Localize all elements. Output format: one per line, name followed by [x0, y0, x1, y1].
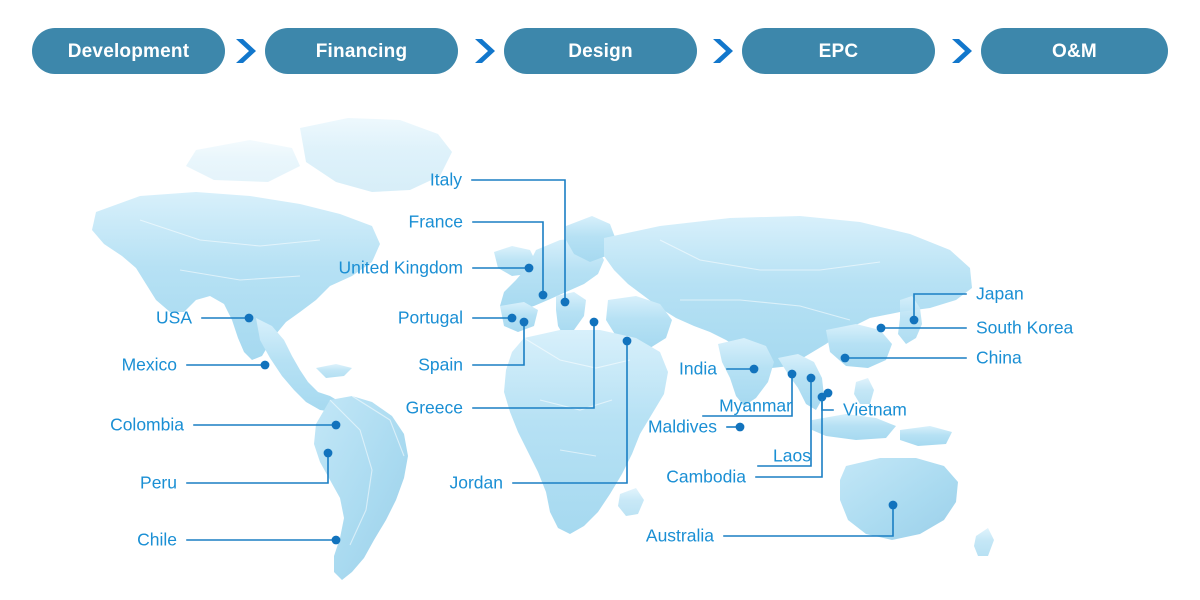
leader-line-italy	[472, 180, 565, 302]
map-label-myanmar[interactable]: Myanmar	[719, 397, 792, 415]
map-label-colombia[interactable]: Colombia	[110, 416, 184, 434]
map-marker-japan[interactable]	[910, 316, 919, 325]
leader-line-peru	[187, 453, 328, 483]
map-label-italy[interactable]: Italy	[430, 171, 462, 189]
map-marker-vietnam[interactable]	[824, 389, 833, 398]
map-label-portugal[interactable]: Portugal	[398, 309, 463, 327]
map-marker-portugal[interactable]	[508, 314, 517, 323]
map-marker-jordan[interactable]	[623, 337, 632, 346]
map-label-south-korea[interactable]: South Korea	[976, 319, 1073, 337]
map-marker-chile[interactable]	[332, 536, 341, 545]
map-marker-myanmar[interactable]	[788, 370, 797, 379]
map-label-united-kingdom[interactable]: United Kingdom	[338, 259, 463, 277]
map-marker-usa[interactable]	[245, 314, 254, 323]
map-label-vietnam[interactable]: Vietnam	[843, 401, 907, 419]
map-marker-maldives[interactable]	[736, 423, 745, 432]
map-label-cambodia[interactable]: Cambodia	[666, 468, 746, 486]
map-marker-greece[interactable]	[590, 318, 599, 327]
world-map: USAMexicoColombiaPeruChileItalyFranceUni…	[0, 0, 1200, 600]
map-label-china[interactable]: China	[976, 349, 1022, 367]
map-marker-spain[interactable]	[520, 318, 529, 327]
map-label-japan[interactable]: Japan	[976, 285, 1024, 303]
map-label-peru[interactable]: Peru	[140, 474, 177, 492]
map-label-chile[interactable]: Chile	[137, 531, 177, 549]
leader-line-france	[473, 222, 543, 295]
map-label-mexico[interactable]: Mexico	[122, 356, 177, 374]
leader-line-jordan	[513, 341, 627, 483]
map-marker-italy[interactable]	[561, 298, 570, 307]
map-label-india[interactable]: India	[679, 360, 717, 378]
map-label-jordan[interactable]: Jordan	[449, 474, 503, 492]
map-label-spain[interactable]: Spain	[418, 356, 463, 374]
map-label-france[interactable]: France	[409, 213, 463, 231]
leader-line-japan	[914, 294, 966, 320]
map-marker-australia[interactable]	[889, 501, 898, 510]
map-marker-mexico[interactable]	[261, 361, 270, 370]
leader-line-australia	[724, 505, 893, 536]
map-marker-peru[interactable]	[324, 449, 333, 458]
map-marker-france[interactable]	[539, 291, 548, 300]
map-marker-colombia[interactable]	[332, 421, 341, 430]
map-label-laos[interactable]: Laos	[773, 447, 811, 465]
leader-line-spain	[473, 322, 524, 365]
map-marker-laos[interactable]	[807, 374, 816, 383]
map-marker-south-korea[interactable]	[877, 324, 886, 333]
map-label-usa[interactable]: USA	[156, 309, 192, 327]
map-marker-united-kingdom[interactable]	[525, 264, 534, 273]
map-label-maldives[interactable]: Maldives	[648, 418, 717, 436]
global-presence-page: DevelopmentFinancingDesignEPCO&M	[0, 0, 1200, 600]
map-label-greece[interactable]: Greece	[406, 399, 463, 417]
map-marker-china[interactable]	[841, 354, 850, 363]
map-label-australia[interactable]: Australia	[646, 527, 714, 545]
leader-line-vietnam	[822, 400, 833, 410]
map-marker-india[interactable]	[750, 365, 759, 374]
